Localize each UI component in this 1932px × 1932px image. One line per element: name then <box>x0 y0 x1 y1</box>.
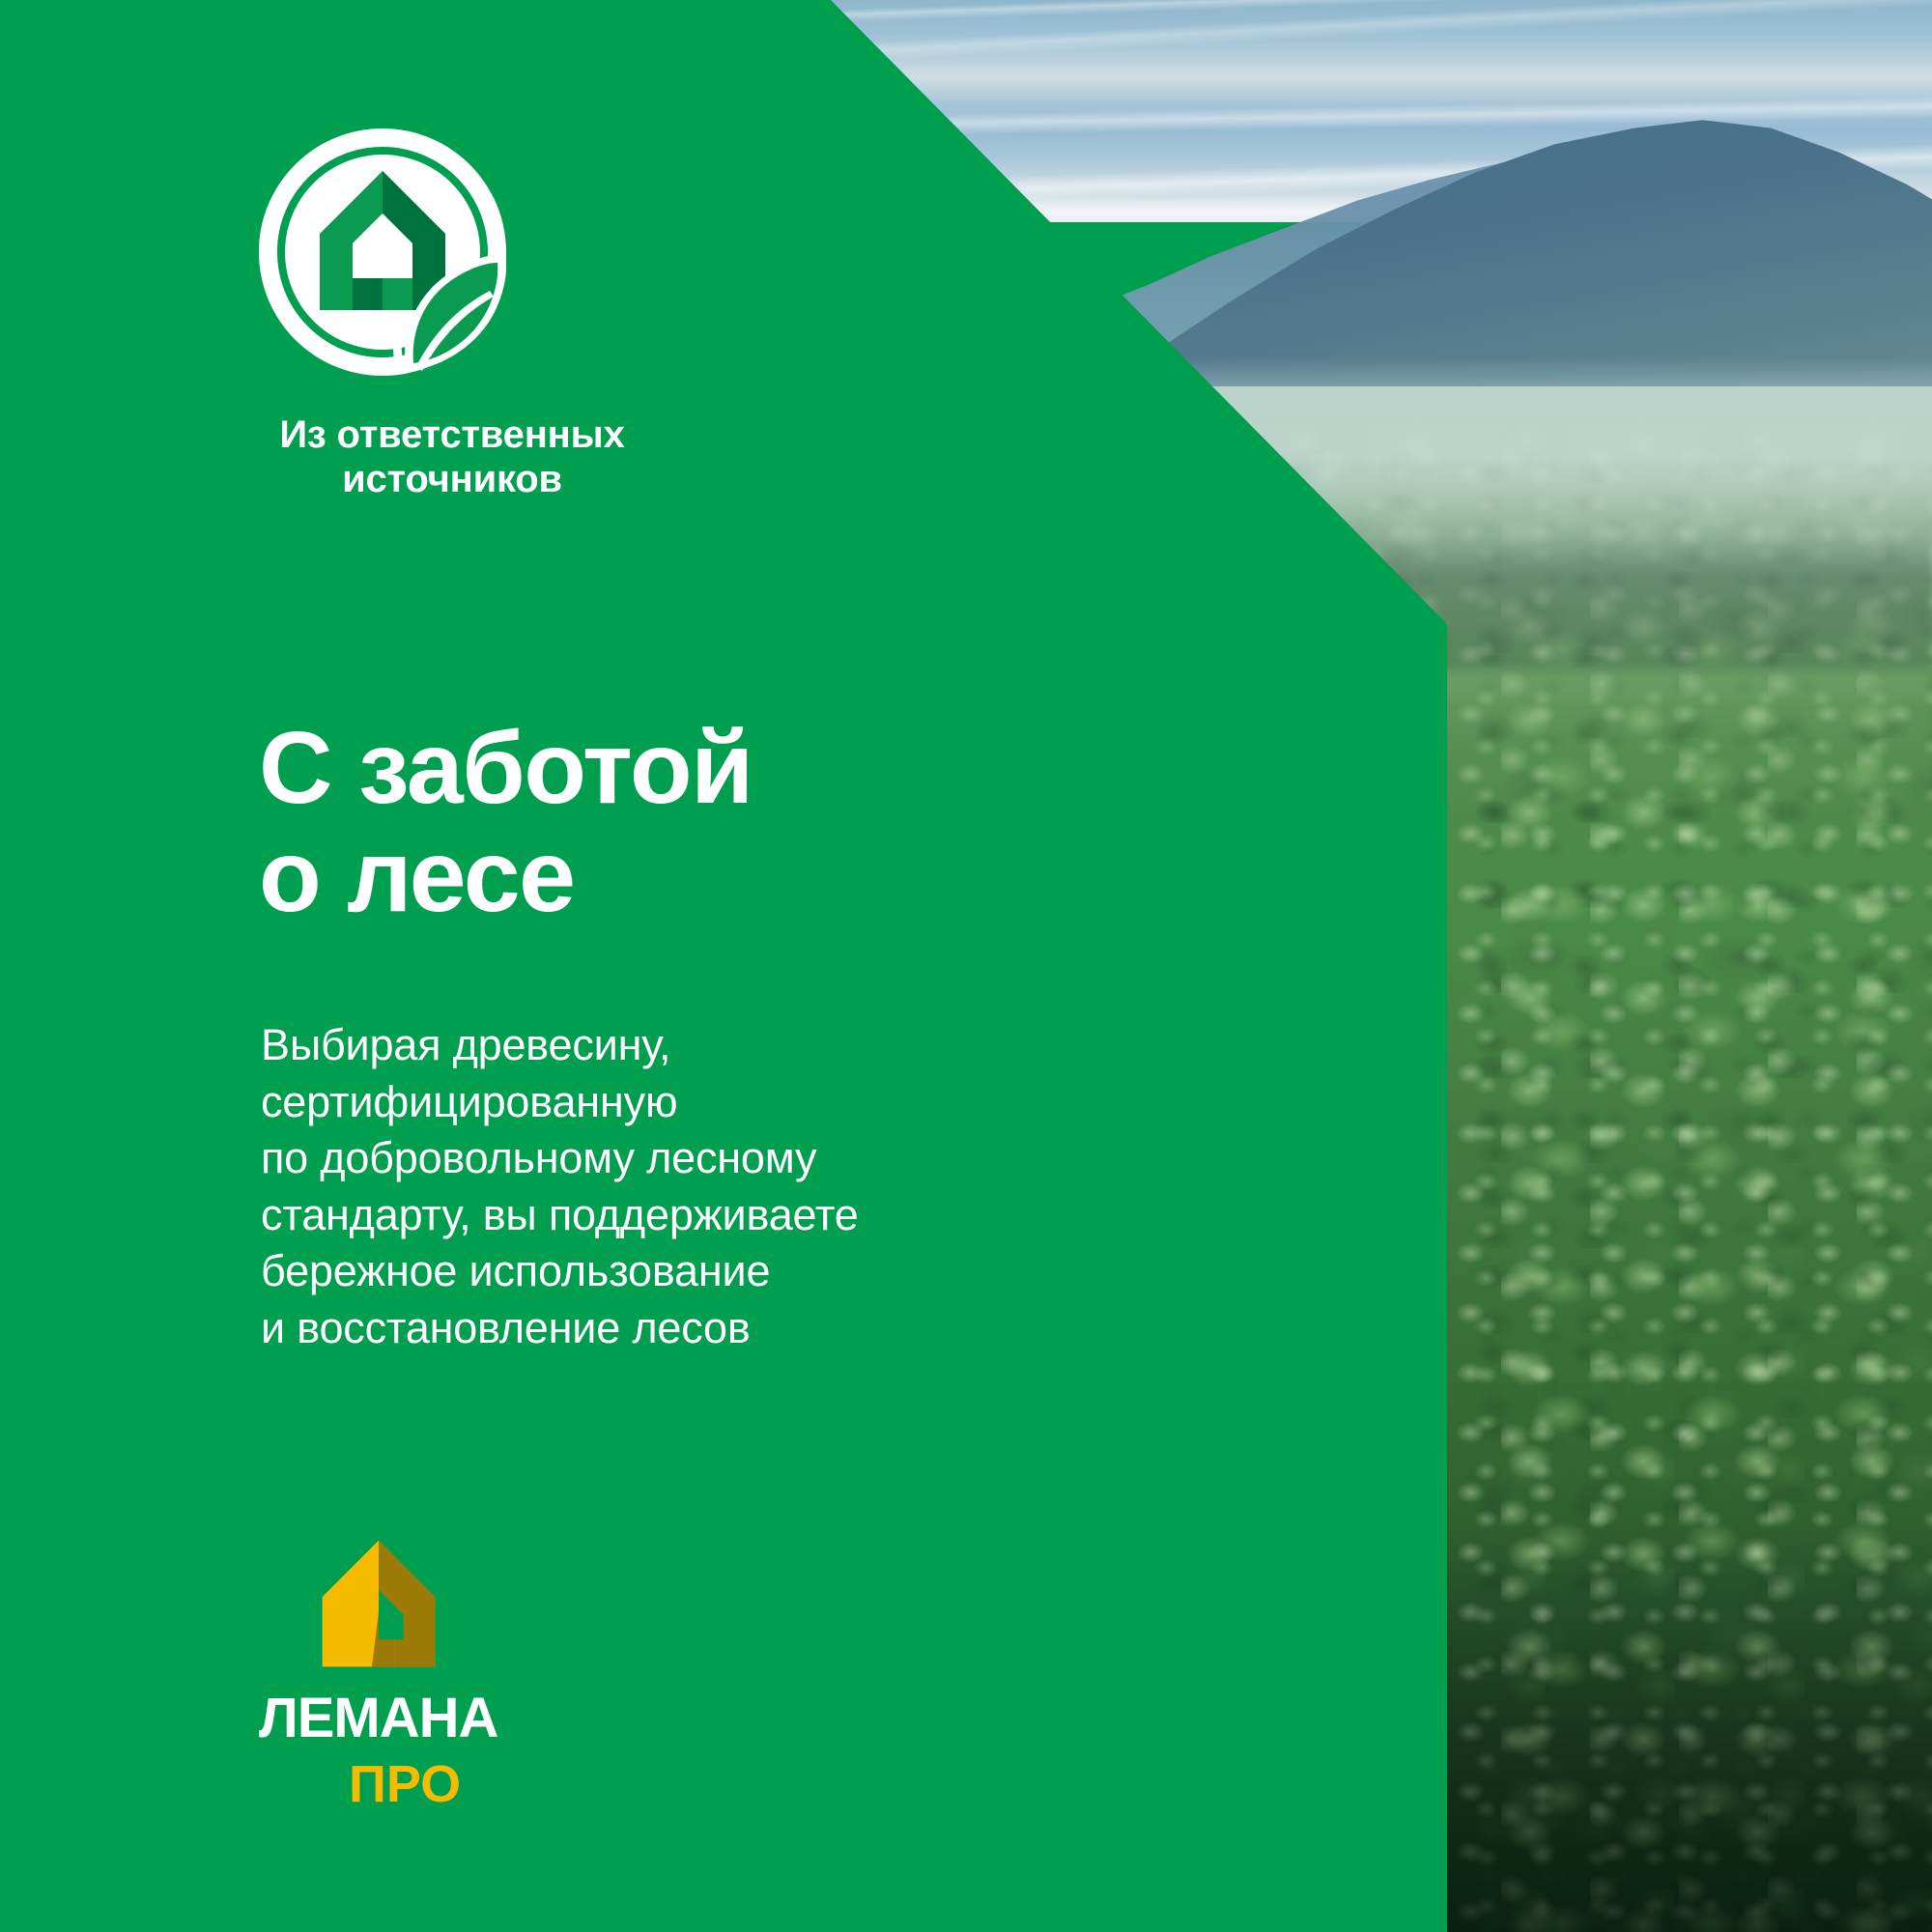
body-paragraph: Выбирая древесину, сертифицированную по … <box>261 1017 859 1356</box>
certification-caption-line-2: источников <box>182 458 723 502</box>
content-layer: Из ответственных источников С заботой о … <box>0 0 1447 1932</box>
body-line-1: Выбирая древесину, <box>261 1017 859 1074</box>
lemana-house-icon <box>311 1536 446 1671</box>
poster-canvas: Из ответственных источников С заботой о … <box>0 0 1932 1932</box>
brand-suffix-text: ПРО <box>349 1756 461 1810</box>
body-line-6: и восстановление лесов <box>261 1300 859 1357</box>
page-title: С заботой о лесе <box>259 714 753 931</box>
brand-name-text: ЛЕМАНА <box>259 1689 497 1748</box>
certification-badge <box>259 128 506 376</box>
certification-caption: Из ответственных источников <box>182 413 723 501</box>
brand-logo-lemana-pro: ЛЕМАНА ПРО <box>259 1536 568 1810</box>
body-line-4: стандарту, вы поддерживаете <box>261 1187 859 1244</box>
certification-caption-line-1: Из ответственных <box>182 413 723 458</box>
headline-line-1: С заботой <box>259 714 753 822</box>
body-line-5: бережное использование <box>261 1243 859 1300</box>
headline-line-2: о лесе <box>259 822 753 930</box>
body-line-2: сертифицированную <box>261 1074 859 1131</box>
brand-name-lemana: ЛЕМАНА <box>259 1689 566 1748</box>
brand-suffix-pro: ПРО <box>259 1756 566 1810</box>
body-line-3: по добровольному лесному <box>261 1130 859 1187</box>
